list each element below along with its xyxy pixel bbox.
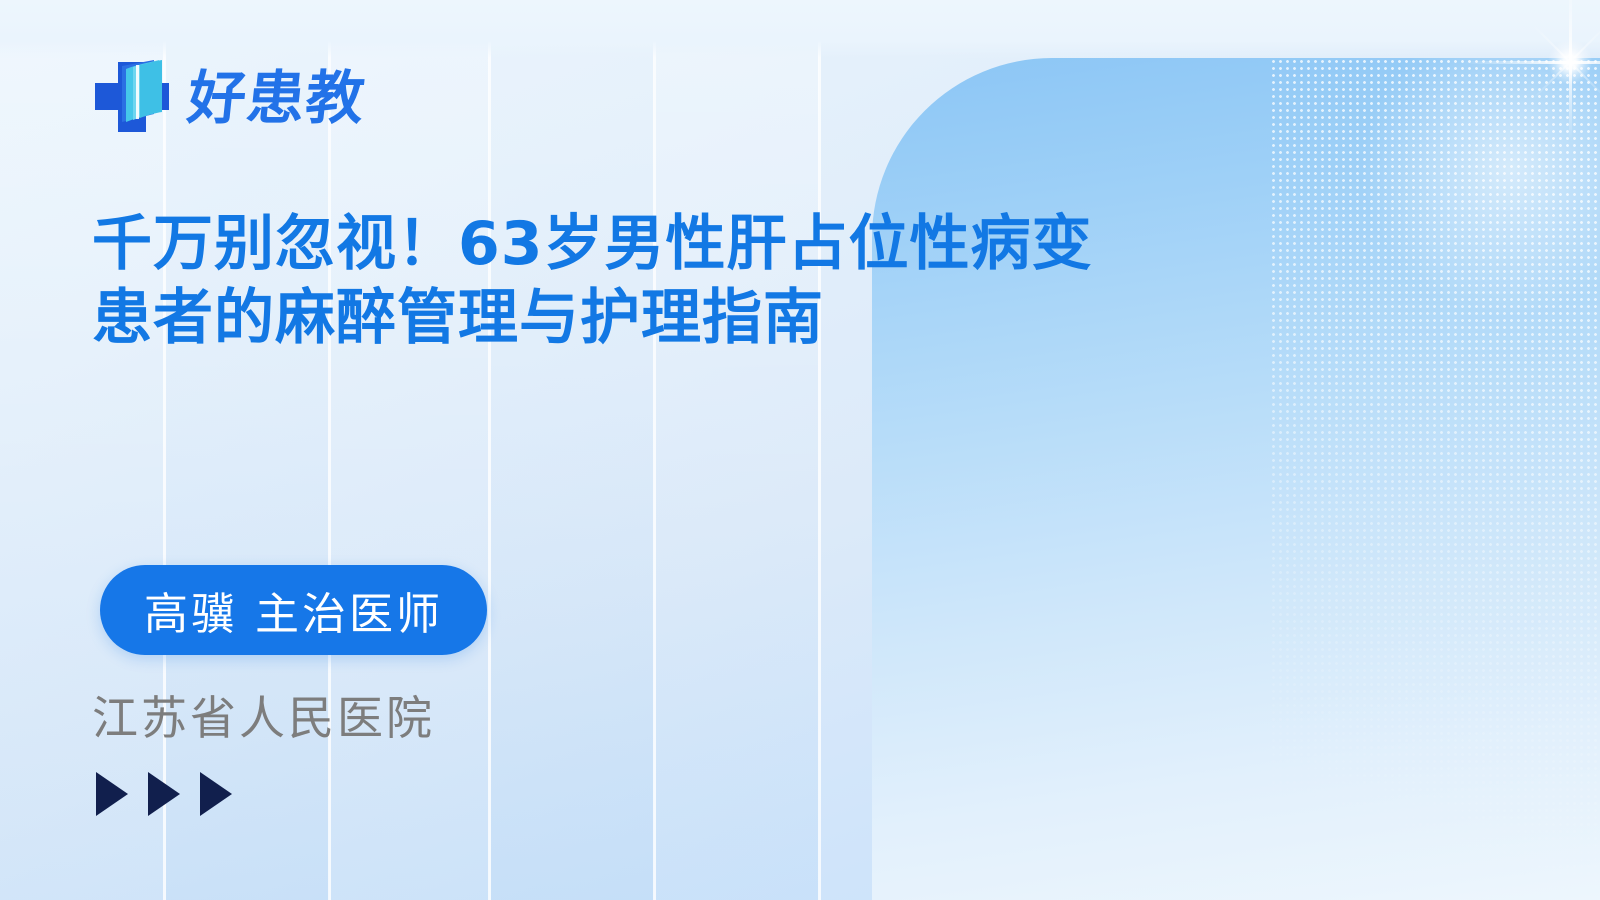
speaker-badge-label: 高骥 主治医师 xyxy=(144,578,443,642)
play-arrow-3-icon xyxy=(200,772,232,816)
brand-logo[interactable]: 好患教 xyxy=(92,56,365,140)
play-arrows-decoration xyxy=(96,772,232,816)
page-title-line-1: 千万别忽视！63岁男性肝占位性病变 xyxy=(92,208,1332,282)
slide-content: 好患教 千万别忽视！63岁男性肝占位性病变 患者的麻醉管理与护理指南 高骥 主治… xyxy=(0,0,1600,900)
page-title-line-2: 患者的麻醉管理与护理指南 xyxy=(92,282,1332,356)
medical-cross-book-icon xyxy=(92,56,174,140)
play-arrow-1-icon xyxy=(96,772,128,816)
hospital-name: 江苏省人民医院 xyxy=(92,682,435,748)
page-title: 千万别忽视！63岁男性肝占位性病变 患者的麻醉管理与护理指南 xyxy=(92,208,1332,356)
speaker-badge[interactable]: 高骥 主治医师 xyxy=(100,565,487,655)
course-cover-slide: 好患教 千万别忽视！63岁男性肝占位性病变 患者的麻醉管理与护理指南 高骥 主治… xyxy=(0,0,1600,900)
brand-name: 好患教 xyxy=(185,69,368,127)
play-arrow-2-icon xyxy=(148,772,180,816)
